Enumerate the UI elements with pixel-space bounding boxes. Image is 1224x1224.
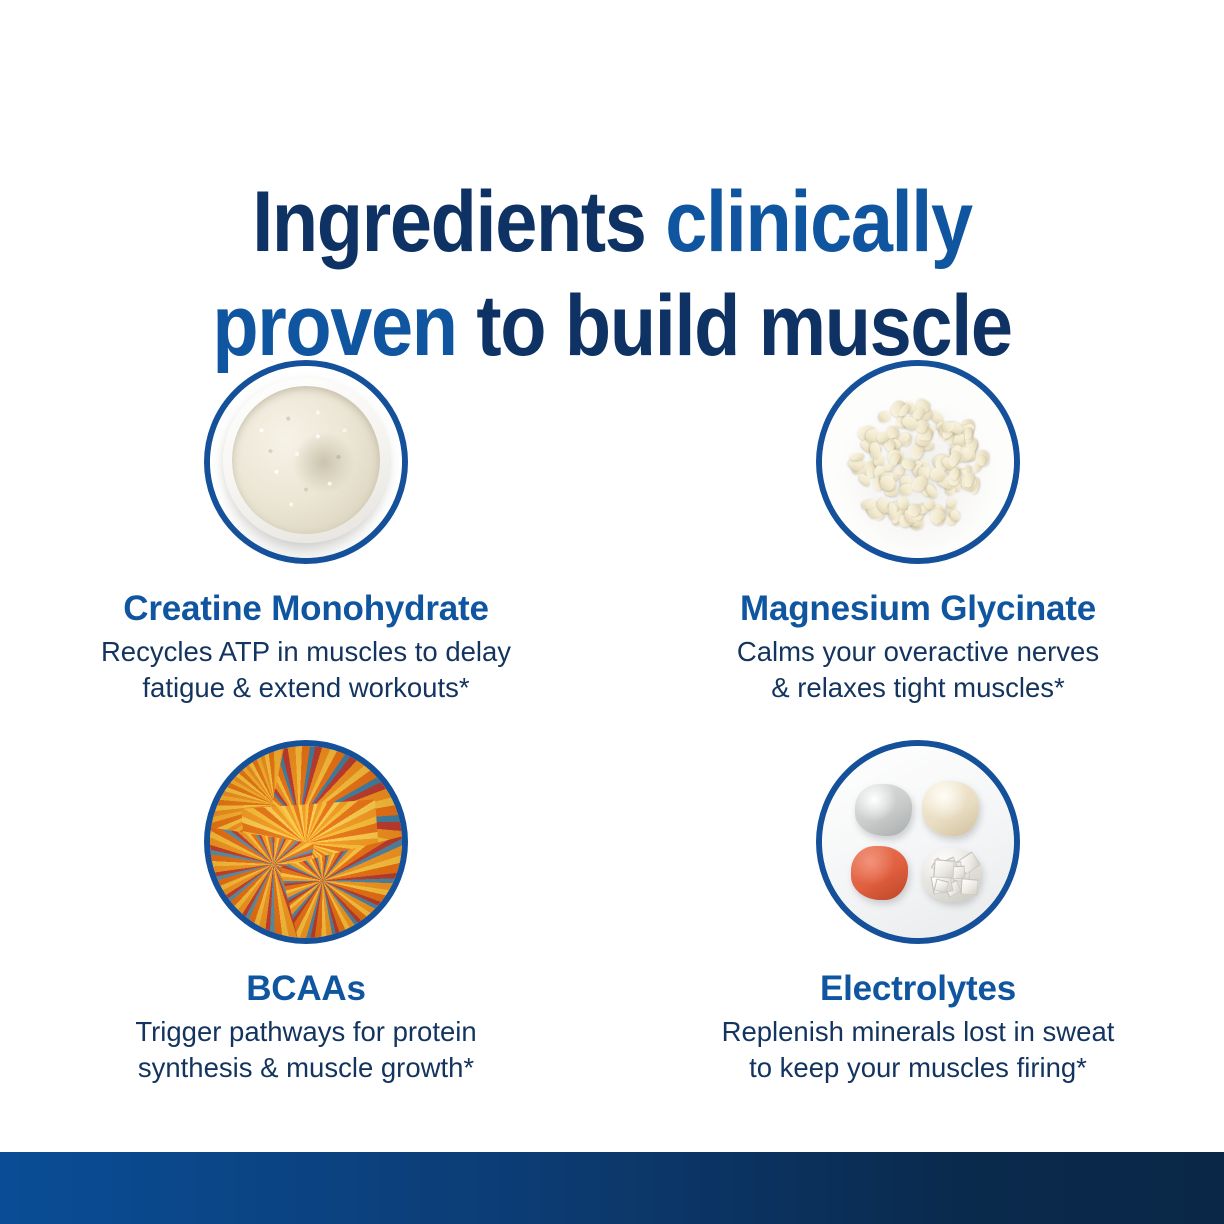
ingredient-description: Recycles ATP in muscles to delay fatigue… [101, 634, 511, 707]
ingredient-title: BCAAs [246, 970, 366, 1008]
page-title-line-1: Ingredients clinically [73, 170, 1150, 274]
electrolyte-mineral-rocks-icon [816, 740, 1020, 944]
bcaa-crystals-micrograph-icon [204, 740, 408, 944]
ingredient-card-electrolytes: Electrolytes Replenish minerals lost in … [612, 740, 1224, 1120]
magnesium-glycinate-flakes-icon [816, 360, 1020, 564]
ingredient-card-creatine: Creatine Monohydrate Recycles ATP in mus… [0, 360, 612, 740]
page-title-ingredients: Ingredients [252, 174, 665, 270]
ingredient-description: Trigger pathways for protein synthesis &… [135, 1014, 476, 1087]
ingredient-card-bcaas: BCAAs Trigger pathways for protein synth… [0, 740, 612, 1120]
ingredient-description: Replenish minerals lost in sweat to keep… [722, 1014, 1115, 1087]
bottom-accent-bar [0, 1152, 1224, 1224]
creatine-powder-bowl-icon [204, 360, 408, 564]
ingredient-title: Magnesium Glycinate [740, 590, 1096, 628]
ingredient-title: Electrolytes [820, 970, 1016, 1008]
page-title: Ingredients clinically proven to build m… [73, 170, 1150, 378]
ingredients-infographic: Ingredients clinically proven to build m… [0, 0, 1224, 1224]
ingredient-description: Calms your overactive nerves & relaxes t… [737, 634, 1099, 707]
ingredient-title: Creatine Monohydrate [123, 590, 489, 628]
ingredient-grid: Creatine Monohydrate Recycles ATP in mus… [0, 360, 1224, 1120]
ingredient-card-magnesium: Magnesium Glycinate Calms your overactiv… [612, 360, 1224, 740]
page-title-clinically: clinically [665, 174, 972, 270]
